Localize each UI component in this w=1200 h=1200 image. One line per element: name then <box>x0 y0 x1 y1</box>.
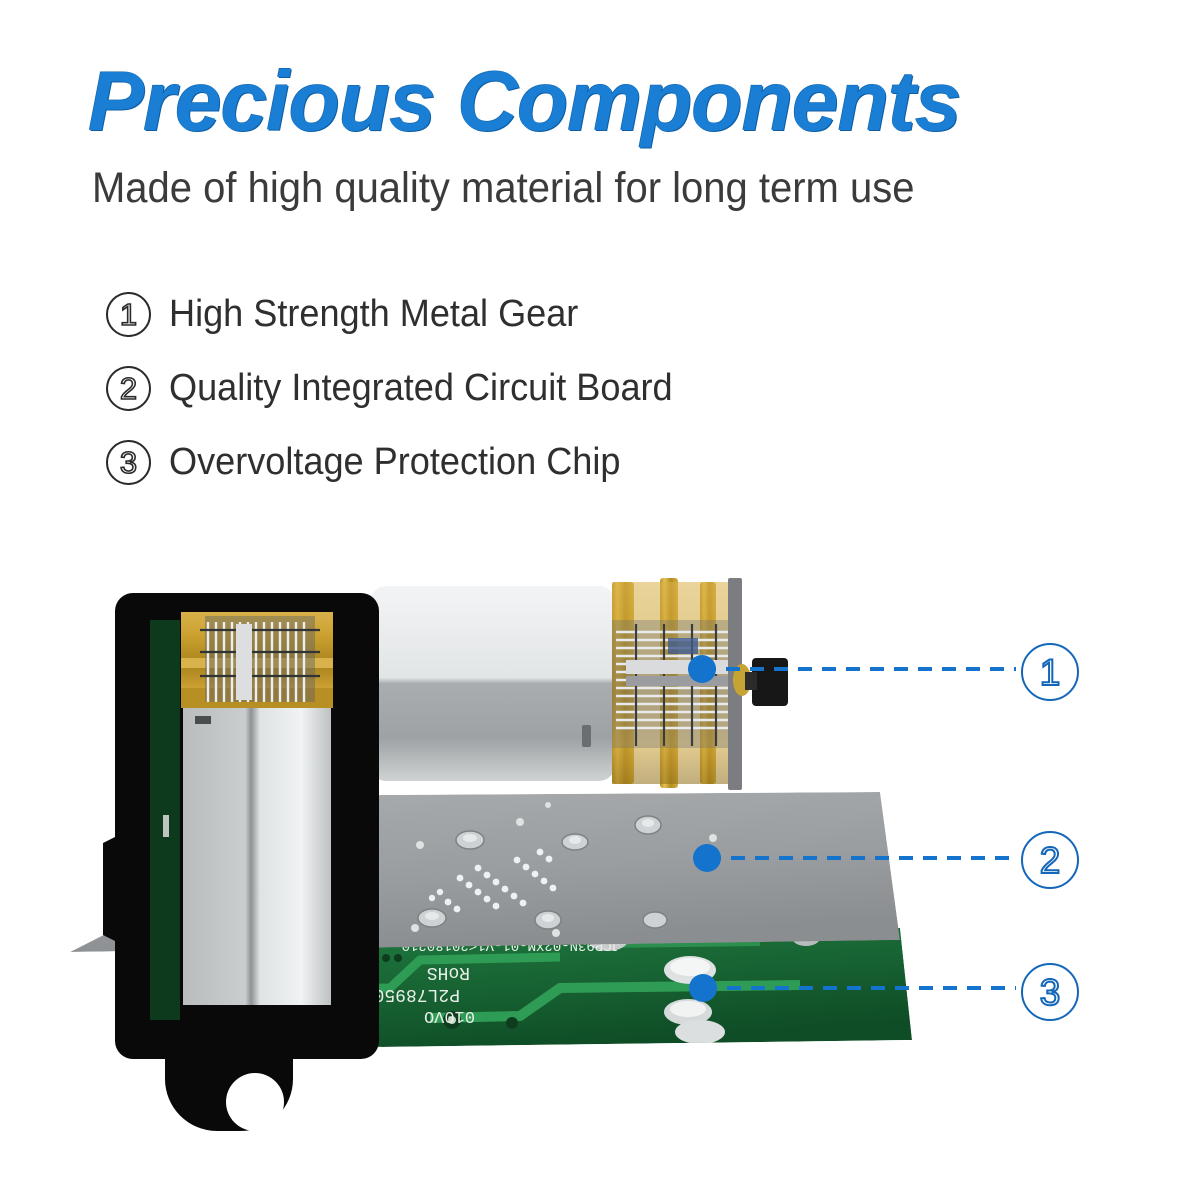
feature-number-badge-1: 1 <box>106 292 151 337</box>
callout-dot-3 <box>689 974 717 1002</box>
infographic-page: Precious Components Made of high quality… <box>0 0 1200 1200</box>
gear-motor-horizontal <box>370 578 788 790</box>
feature-label-3: Overvoltage Protection Chip <box>169 441 620 484</box>
callout-marker-1: 1 <box>1021 643 1079 701</box>
feature-number-badge-3: 3 <box>106 440 151 485</box>
black-plastic-housing <box>103 593 379 1131</box>
page-subtitle: Made of high quality material for long t… <box>92 162 1078 214</box>
pcb-silkscreen-rohs: RoHS <box>427 962 470 982</box>
page-title: Precious Components <box>88 56 1158 146</box>
callout-marker-2: 2 <box>1021 831 1079 889</box>
feature-number-badge-2: 2 <box>106 366 151 411</box>
feature-item-2: 2 Quality Integrated Circuit Board <box>106 352 1006 424</box>
callout-marker-3: 3 <box>1021 963 1079 1021</box>
product-photo: JCP93N-02XM-01-V1<20180210 RoHS WGPCB® P… <box>0 520 1200 1200</box>
callout-dot-1 <box>688 655 716 683</box>
feature-label-1: High Strength Metal Gear <box>169 293 578 336</box>
feature-label-2: Quality Integrated Circuit Board <box>169 367 673 410</box>
mounting-hole <box>226 1073 284 1131</box>
feature-item-1: 1 High Strength Metal Gear <box>106 278 1006 350</box>
pcb-silkscreen-code: 010VO <box>424 1006 475 1025</box>
feature-list: 1 High Strength Metal Gear 2 Quality Int… <box>106 278 1006 500</box>
feature-item-3: 3 Overvoltage Protection Chip <box>106 426 1006 498</box>
callout-dot-2 <box>693 844 721 872</box>
